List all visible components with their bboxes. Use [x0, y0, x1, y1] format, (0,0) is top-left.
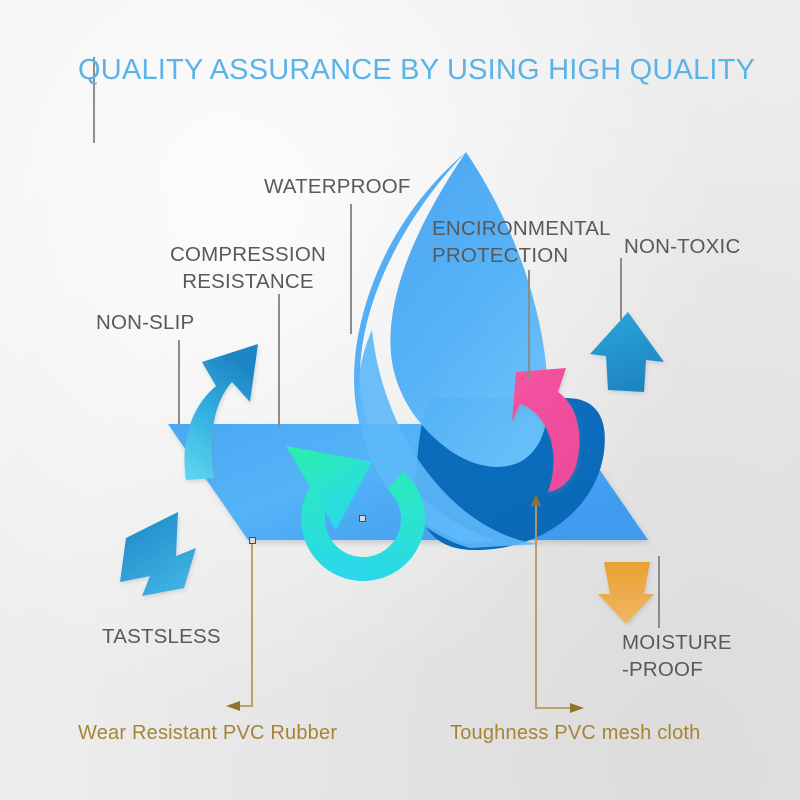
leader-non-slip — [178, 340, 180, 424]
label-non-slip-text: NON-SLIP — [96, 311, 194, 334]
label-compression-line1: COMPRESSION — [170, 242, 326, 269]
label-non-slip: NON-SLIP — [96, 310, 194, 336]
label-environmental-line2: PROTECTION — [432, 243, 611, 270]
vertex-marker-center — [359, 515, 366, 522]
leader-non-toxic — [620, 258, 622, 320]
label-moisture-line2: -PROOF — [622, 657, 732, 684]
label-moisture-line1: MOISTURE — [622, 630, 732, 657]
label-tastsless-text: TASTSLESS — [102, 625, 221, 648]
leader-environmental — [528, 270, 530, 380]
leader-moisture — [658, 556, 660, 628]
label-environmental-line1: ENCIRONMENTAL — [432, 216, 611, 243]
label-waterproof: WATERPROOF — [264, 174, 411, 200]
down-left-arrow-icon — [120, 512, 196, 596]
leader-waterproof — [350, 204, 352, 334]
infographic-canvas: QUALITY ASSURANCE BY USING HIGH QUALITY — [0, 0, 800, 800]
label-environmental-protection: ENCIRONMENTAL PROTECTION — [432, 216, 611, 269]
left-callout-arrow — [226, 543, 252, 711]
label-tastsless: TASTSLESS — [102, 624, 221, 650]
callout-right-label: Toughness PVC mesh cloth — [450, 722, 700, 745]
label-moisture-proof: MOISTURE -PROOF — [622, 630, 732, 683]
leader-compression — [278, 294, 280, 428]
label-waterproof-text: WATERPROOF — [264, 175, 411, 198]
label-non-toxic: NON-TOXIC — [624, 234, 740, 260]
callout-left-label: Wear Resistant PVC Rubber — [78, 722, 337, 745]
down-arrow-icon — [598, 562, 654, 624]
up-arrow-icon — [590, 312, 664, 392]
label-compression-resistance: COMPRESSION RESISTANCE — [170, 242, 326, 295]
vertex-marker-left — [249, 537, 256, 544]
label-non-toxic-text: NON-TOXIC — [624, 235, 740, 258]
label-compression-line2: RESISTANCE — [170, 269, 326, 296]
